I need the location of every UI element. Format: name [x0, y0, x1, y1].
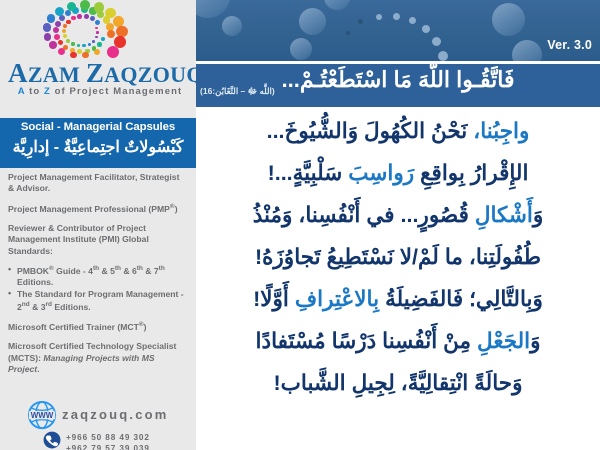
- body-line: وَأَشْكالِ قُصُورٍ... في أَنْفُسِنا، وَم…: [200, 194, 596, 236]
- body-text-segment: وَ: [530, 329, 540, 353]
- contact-block: WWW zaqzouq.com +966 50 88 49 302 +962 7…: [0, 398, 196, 450]
- wordmark-zam: ZAM: [28, 62, 80, 87]
- decorative-bubble: [222, 16, 242, 36]
- brand-wordmark: AZAM ZAQZOUQ: [8, 58, 192, 89]
- logo-dot: [55, 7, 64, 16]
- body-text-segment: وَ: [533, 203, 543, 227]
- website-url[interactable]: zaqzouq.com: [62, 407, 169, 422]
- mcts-suffix: .: [37, 364, 39, 374]
- body-line: واجِبُنا، نَحْنُ الكُهُولَ وَالشُّيُوخَ.…: [200, 110, 596, 152]
- reviewer-intro: Reviewer & Contributor of Project Manage…: [8, 223, 188, 257]
- tagline-rest: of Project Management: [51, 86, 182, 97]
- phone-number-2: +962 79 57 39 039: [66, 443, 150, 450]
- brand-logo-block[interactable]: AZAM ZAQZOUQ A to Z of Project Managemen…: [0, 0, 196, 118]
- decorative-bubble: [492, 3, 525, 36]
- phone-numbers: +966 50 88 49 302 +962 79 57 39 039: [66, 432, 150, 450]
- body-text-segment: وَحالَةً انْتِقالِيَّةً، لِجِيلِ الشَّبا…: [274, 371, 523, 395]
- decorative-dot: [358, 19, 363, 24]
- logo-dot: [53, 27, 59, 33]
- body-line: وَبِالتَّالِي؛ فَالفَضِيلَةُ بِالاعْتِرا…: [200, 278, 596, 320]
- credentials-list: Project Management Facilitator, Strategi…: [8, 172, 188, 383]
- logo-dot: [107, 46, 119, 58]
- logo-dot: [62, 29, 66, 33]
- logo-dot: [90, 16, 95, 21]
- logo-dot: [88, 43, 91, 46]
- body-highlight-word: بِالاعْتِرافِ: [289, 287, 379, 311]
- globe-www-icon: WWW: [27, 400, 57, 430]
- decorative-bubble: [324, 0, 350, 10]
- logo-dot: [80, 0, 90, 10]
- decorative-dot: [422, 25, 430, 33]
- logo-dot: [63, 34, 67, 38]
- phone-handset-icon: [43, 431, 61, 449]
- logo-dot: [66, 20, 70, 24]
- logo-dot: [94, 49, 100, 55]
- logo-dot: [43, 23, 51, 31]
- body-line: طُفُولَتِنا، ما لَمْ/لا نَسْتَطِيعُ تَجا…: [200, 236, 596, 278]
- standards-bullet-list: PMBOK® Guide - 4th & 5th & 6th & 7th Edi…: [8, 265, 188, 313]
- body-line: الإِقْرارُ بِواقِعِ رَواسِبَ سَلْبِيَّةٍ…: [200, 152, 596, 194]
- standards-bullet-2: The Standard for Program Management - 2n…: [8, 289, 188, 313]
- body-line: وَالجَعْلِ مِنْ أَنْفُسِنا دَرْسًا مُسْت…: [200, 320, 596, 362]
- body-text-segment: سَلْبِيَّةٍ...!: [268, 161, 343, 185]
- sidebar: AZAM ZAQZOUQ A to Z of Project Managemen…: [0, 0, 196, 450]
- logo-dot: [107, 30, 115, 38]
- body-text-segment: الإِقْرارُ بِواقِعِ: [414, 161, 528, 185]
- body-highlight-word: واجِبُنا،: [467, 119, 529, 143]
- mct-credential: Microsoft Certified Trainer (MCT®): [8, 321, 188, 333]
- quran-verse-citation: (اللَّه ﷻ – التَّغَابُن:16): [200, 86, 275, 99]
- decorative-bubble: [512, 40, 542, 61]
- logo-dot: [58, 48, 65, 55]
- logo-dot: [95, 36, 98, 39]
- wordmark-a: A: [8, 58, 28, 88]
- body-line: وَحالَةً انْتِقالِيَّةً، لِجِيلِ الشَّبا…: [200, 362, 596, 404]
- logo-dot: [101, 37, 105, 41]
- logo-dot: [94, 2, 104, 12]
- logo-dot: [49, 41, 57, 49]
- phone-number-1: +966 50 88 49 302: [66, 432, 150, 443]
- logo-dot: [71, 42, 74, 45]
- logo-dot: [82, 44, 85, 47]
- capsules-title-ar: كَبْسُولاتٌ اجتِماعِيَّةٌ - إدارِيَّة: [0, 137, 196, 157]
- svg-text:WWW: WWW: [31, 411, 54, 420]
- wordmark-z: Z: [86, 58, 104, 88]
- logo-dot: [95, 27, 97, 29]
- capsules-title-bar: Social - Managerial Capsules كَبْسُولاتٌ…: [0, 118, 196, 168]
- decorative-dot: [376, 14, 382, 20]
- body-highlight-word: الجَعْلِ: [471, 329, 530, 353]
- version-label: Ver. 3.0: [547, 38, 592, 52]
- logo-dot: [84, 14, 89, 19]
- logo-dot: [77, 14, 82, 19]
- colored-dot-spiral-logo-icon: [28, 2, 138, 62]
- tagline-z: Z: [44, 86, 51, 97]
- logo-dot: [47, 14, 56, 23]
- logo-dot: [58, 40, 64, 46]
- mcts-credential: Microsoft Certified Technology Specialis…: [8, 341, 188, 375]
- wordmark-aqzouq: AQZOUQ: [104, 62, 196, 87]
- logo-dot: [77, 44, 80, 47]
- logo-dot: [63, 24, 67, 28]
- main-arabic-body: واجِبُنا، نَحْنُ الكُهُولَ وَالشُّيُوخَ.…: [200, 110, 596, 450]
- logo-dot: [71, 16, 75, 20]
- body-text-segment: طُفُولَتِنا، ما لَمْ/لا نَسْتَطِيعُ تَجا…: [255, 245, 541, 269]
- brand-tagline: A to Z of Project Management: [8, 86, 192, 97]
- body-text-segment: أَوَّلًا!: [253, 287, 289, 311]
- header-banner: Ver. 3.0: [196, 0, 600, 61]
- body-text-segment: قُصُورٍ... في أَنْفُسِنا، وَمُنْذُ: [253, 203, 469, 227]
- body-text-segment: مِنْ أَنْفُسِنا دَرْسًا مُسْتَفادًا: [256, 329, 472, 353]
- credential-line-2: Project Management Professional (PMP®): [8, 203, 188, 215]
- decorative-dot: [346, 31, 350, 35]
- decorative-bubble: [290, 38, 312, 60]
- body-text-segment: وَبِالتَّالِي؛ فَالفَضِيلَةُ: [379, 287, 543, 311]
- decorative-dot: [432, 37, 441, 46]
- credential-line-1: Project Management Facilitator, Strategi…: [8, 172, 188, 195]
- logo-dot: [55, 21, 61, 27]
- logo-dot: [66, 39, 70, 43]
- body-text-segment: نَحْنُ الكُهُولَ وَالشُّيُوخَ...: [267, 119, 468, 143]
- body-highlight-word: أَشْكالِ: [469, 203, 533, 227]
- decorative-dot: [393, 13, 400, 20]
- logo-dot: [96, 31, 99, 34]
- logo-dot: [54, 34, 60, 40]
- logo-dot: [92, 40, 95, 43]
- decorative-dot: [409, 17, 416, 24]
- body-highlight-word: رَواسِبَ: [342, 161, 414, 185]
- logo-dot: [97, 42, 101, 46]
- capsules-title-en: Social - Managerial Capsules: [0, 121, 196, 133]
- standards-bullet-1: PMBOK® Guide - 4th & 5th & 6th & 7th Edi…: [8, 265, 188, 289]
- quran-verse-banner: فَاتَّقُـوا اللَّهَ مَا اسْتَطَعْتُـمْ..…: [196, 64, 600, 107]
- tagline-to: to: [25, 86, 44, 97]
- slide-canvas: AZAM ZAQZOUQ A to Z of Project Managemen…: [0, 0, 600, 450]
- decorative-bubble: [196, 0, 230, 18]
- logo-dot: [44, 33, 52, 41]
- decorative-dot: [438, 51, 448, 61]
- logo-dot: [95, 20, 100, 25]
- decorative-bubble: [299, 8, 326, 35]
